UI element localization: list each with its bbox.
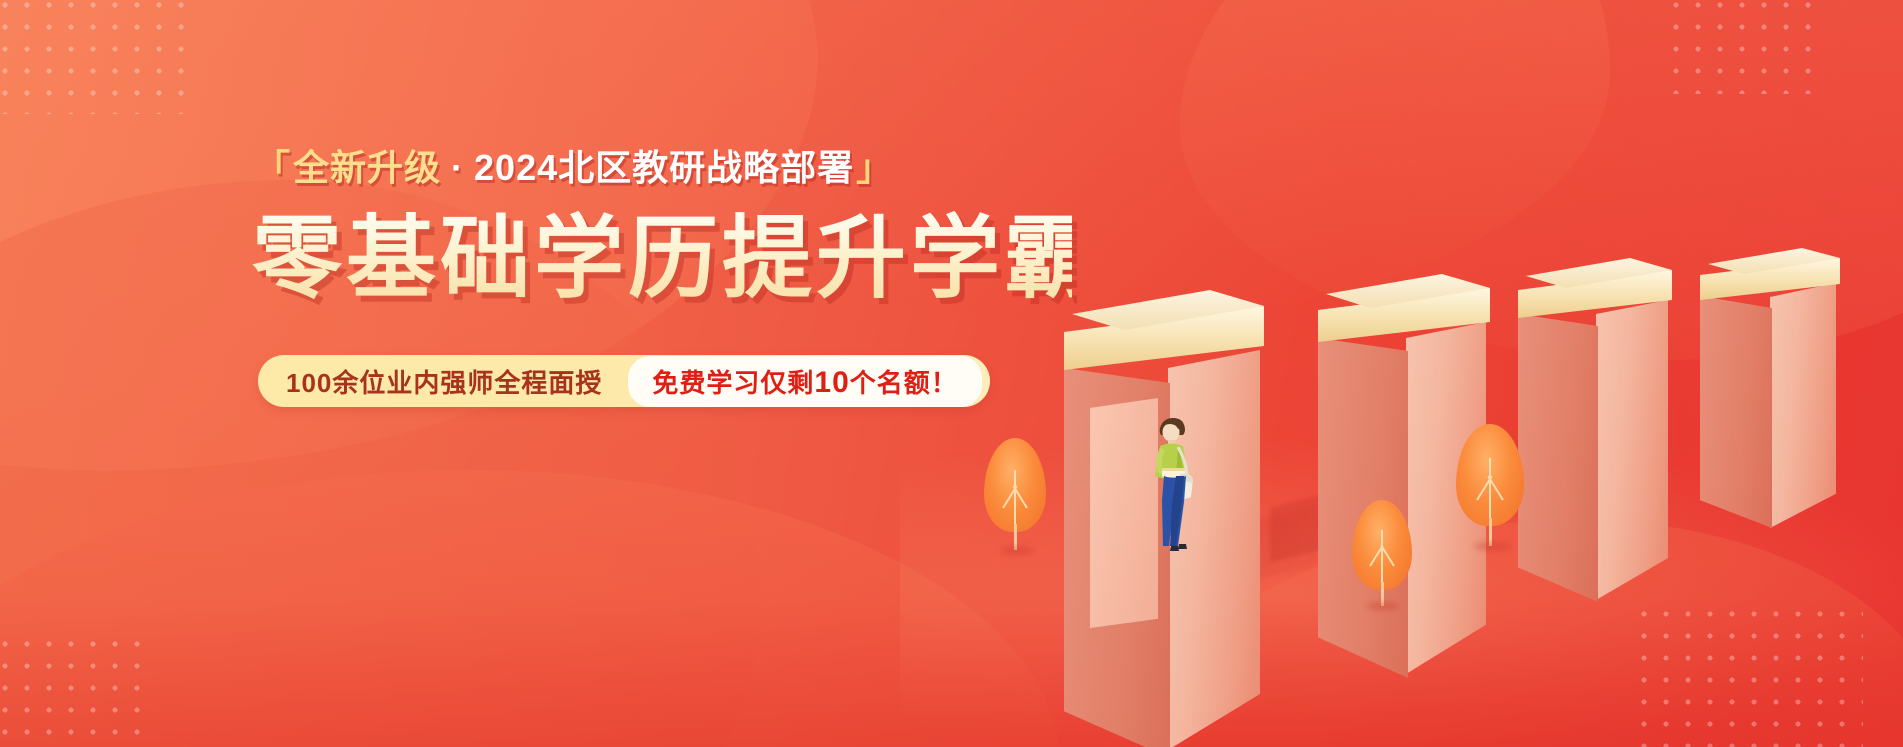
banner-text-block: 「全新升级·2024北区教研战略部署」 零基础学历提升学霸班 <box>252 146 1072 308</box>
pill-right-prefix: 免费学习仅剩 <box>652 368 814 398</box>
subtitle-highlight: 全新升级 <box>293 147 441 188</box>
background-wave-top-right <box>1180 0 1903 360</box>
subtitle-rest: 2024北区教研战略部署 <box>474 147 854 188</box>
dot-pattern-top-right <box>1665 0 1815 94</box>
pill-right-badge: 免费学习仅剩10个名额！ <box>628 356 981 407</box>
subtitle-separator: · <box>441 147 474 188</box>
subtitle-open-bracket: 「 <box>252 147 293 188</box>
pill-right-number: 10 <box>814 366 849 399</box>
promo-banner: 「全新升级·2024北区教研战略部署」 零基础学历提升学霸班 100余位业内强师… <box>0 0 1903 747</box>
banner-headline: 零基础学历提升学霸班 <box>252 211 1072 308</box>
background-ground-band <box>0 597 1903 747</box>
banner-feature-pill: 100余位业内强师全程面授 免费学习仅剩10个名额！ <box>258 355 990 407</box>
pill-right-suffix: 个名额！ <box>850 368 958 398</box>
banner-subtitle: 「全新升级·2024北区教研战略部署」 <box>252 146 1072 189</box>
pill-left-label: 100余位业内强师全程面授 <box>286 363 628 400</box>
dot-pattern-top-left <box>0 0 184 114</box>
subtitle-close-bracket: 」 <box>854 147 895 188</box>
